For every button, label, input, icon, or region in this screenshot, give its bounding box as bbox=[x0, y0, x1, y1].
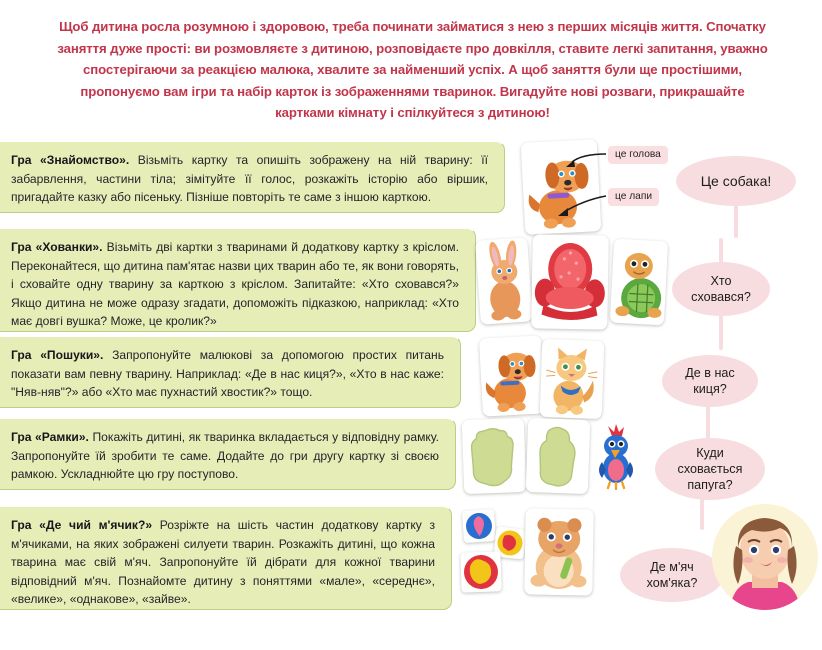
game-title: Гра «Де чий м'ячик?» bbox=[11, 518, 152, 532]
dog-illustration bbox=[479, 335, 545, 416]
bubble-tail-4 bbox=[700, 498, 704, 530]
game-title: Гра «Знайомство». bbox=[11, 153, 129, 167]
bubble-de-v-nas-kytsya: Де в нас киця? bbox=[662, 355, 758, 407]
rabbit-illustration bbox=[475, 237, 533, 324]
frame-bunny-silhouette bbox=[526, 418, 591, 494]
ball-red-illustration bbox=[460, 551, 501, 592]
ball-card-blue bbox=[462, 509, 496, 543]
bubble-kudy-shovayetsya-papuha: Куди сховається папуга? bbox=[655, 438, 765, 500]
parrot-figure bbox=[594, 424, 638, 490]
bubble-de-myach-khomyaka: Де м'яч хом'яка? bbox=[620, 548, 724, 602]
dog-illustration bbox=[521, 139, 602, 235]
bubble-text: Де в нас киця? bbox=[685, 365, 734, 397]
turtle-illustration bbox=[610, 239, 668, 326]
tag-head: це голова bbox=[608, 146, 668, 164]
game-panel-text: Гра «Де чий м'ячик?» Розріжте на шість ч… bbox=[11, 516, 435, 609]
frame-card-left bbox=[462, 418, 527, 494]
game-panel-znayomstvo: Гра «Знайомство». Візьміть картку та опи… bbox=[0, 141, 505, 213]
bubble-text: Куди сховається папуга? bbox=[678, 445, 743, 493]
game-panel-ramky: Гра «Рамки». Покажіть дитині, як тваринк… bbox=[0, 418, 456, 490]
game-panel-hovanky: Гра «Хованки». Візьміть дві картки з тва… bbox=[0, 228, 476, 332]
game-title: Гра «Рамки». bbox=[11, 430, 89, 444]
cat-illustration bbox=[540, 339, 605, 419]
armchair-illustration bbox=[531, 234, 609, 329]
frame-card-right bbox=[526, 418, 591, 494]
frame-bear-silhouette bbox=[462, 418, 527, 494]
girl-illustration bbox=[712, 504, 818, 610]
parrot-illustration bbox=[594, 424, 638, 490]
bubble-text: Хто сховався? bbox=[691, 273, 751, 305]
game-title: Гра «Хованки». bbox=[11, 240, 103, 254]
bubble-tail-2a bbox=[719, 238, 723, 264]
bubble-text: Це собака! bbox=[701, 173, 772, 189]
bubble-tail-2b bbox=[719, 314, 723, 350]
game-panel-text: Гра «Рамки». Покажіть дитині, як тваринк… bbox=[11, 428, 439, 484]
cat-card bbox=[540, 339, 605, 419]
game-panel-text: Гра «Хованки». Візьміть дві картки з тва… bbox=[11, 238, 459, 331]
rabbit-card bbox=[475, 237, 533, 324]
ball-card-red bbox=[460, 551, 501, 592]
girl-avatar bbox=[712, 504, 818, 610]
ball-blue-illustration bbox=[462, 509, 496, 543]
armchair-card bbox=[531, 234, 609, 329]
hamster-card bbox=[524, 508, 593, 595]
intro-paragraph: Щоб дитина росла розумною і здоровою, тр… bbox=[55, 16, 770, 124]
hamster-illustration bbox=[524, 508, 593, 595]
dog-card-intro bbox=[521, 139, 602, 235]
game-panel-poshuky: Гра «Пошуки». Запропонуйте малюкові за д… bbox=[0, 336, 461, 408]
game-panel-de-chyi-myachyk: Гра «Де чий м'ячик?» Розріжте на шість ч… bbox=[0, 506, 452, 610]
turtle-card bbox=[610, 239, 668, 326]
bubble-tail-1 bbox=[734, 204, 738, 238]
game-panel-text: Гра «Пошуки». Запропонуйте малюкові за д… bbox=[11, 346, 444, 402]
tag-paws: це лапи bbox=[608, 188, 659, 206]
dog-card-search bbox=[479, 335, 545, 416]
game-title: Гра «Пошуки». bbox=[11, 348, 103, 362]
bubble-tse-sobaka: Це собака! bbox=[676, 156, 796, 206]
bubble-hto-shovavsya: Хто сховався? bbox=[672, 262, 770, 316]
bubble-text: Де м'яч хом'яка? bbox=[647, 559, 698, 591]
game-panel-text: Гра «Знайомство». Візьміть картку та опи… bbox=[11, 151, 488, 207]
